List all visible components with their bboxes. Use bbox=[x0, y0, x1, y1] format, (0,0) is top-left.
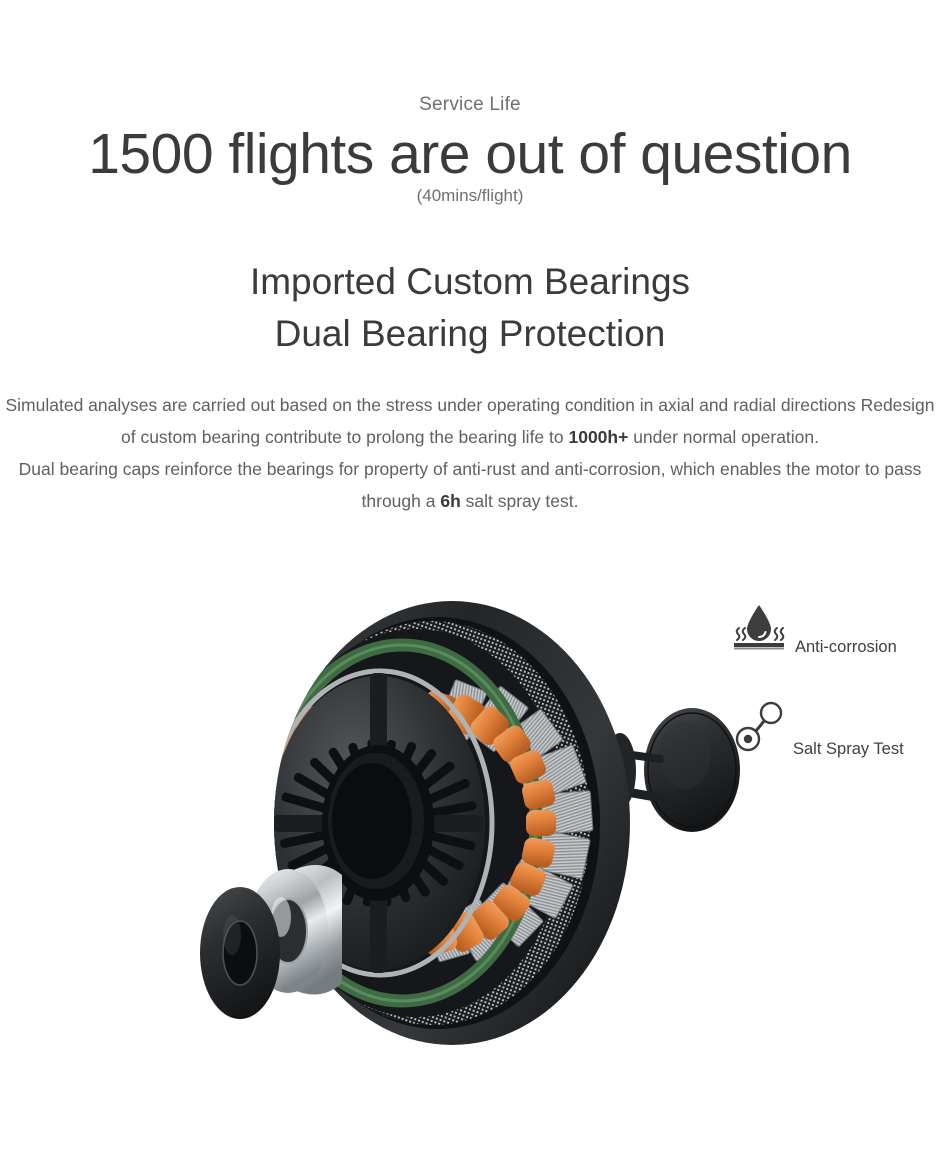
paragraph2-text-b: salt spray test. bbox=[461, 491, 579, 511]
eyebrow-label: Service Life bbox=[0, 94, 940, 116]
product-feature-page: Service Life 1500 flights are out of que… bbox=[0, 0, 940, 1170]
paragraph-bearing-life: Simulated analyses are carried out based… bbox=[0, 389, 940, 453]
page-headline: 1500 flights are out of question bbox=[0, 122, 940, 186]
section-title-line-1: Imported Custom Bearings bbox=[250, 261, 690, 302]
feature-salt-spray-test: Salt Spray Test bbox=[733, 700, 904, 757]
paragraph1-text-b: under normal operation. bbox=[628, 427, 819, 447]
corrosion-droplet-icon bbox=[731, 602, 787, 657]
section-title-line-2: Dual Bearing Protection bbox=[0, 308, 940, 360]
section-body-copy: Simulated analyses are carried out based… bbox=[0, 389, 940, 517]
feature-label-salt-spray-test: Salt Spray Test bbox=[793, 741, 904, 758]
paragraph-salt-spray: Dual bearing caps reinforce the bearings… bbox=[0, 453, 940, 517]
exploded-bldc-motor-render bbox=[180, 575, 780, 1075]
bearing-cap-washer bbox=[200, 887, 280, 1019]
bearing-life-value: 1000h+ bbox=[568, 427, 628, 447]
salt-spray-duration-value: 6h bbox=[440, 491, 460, 511]
feature-label-anti-corrosion: Anti-corrosion bbox=[795, 639, 897, 658]
black-end-cap bbox=[644, 708, 740, 832]
salt-spray-molecule-icon bbox=[733, 700, 785, 757]
section-title: Imported Custom Bearings Dual Bearing Pr… bbox=[0, 256, 940, 360]
headline-caption: (40mins/flight) bbox=[0, 186, 940, 206]
feature-anti-corrosion: Anti-corrosion bbox=[731, 602, 897, 657]
